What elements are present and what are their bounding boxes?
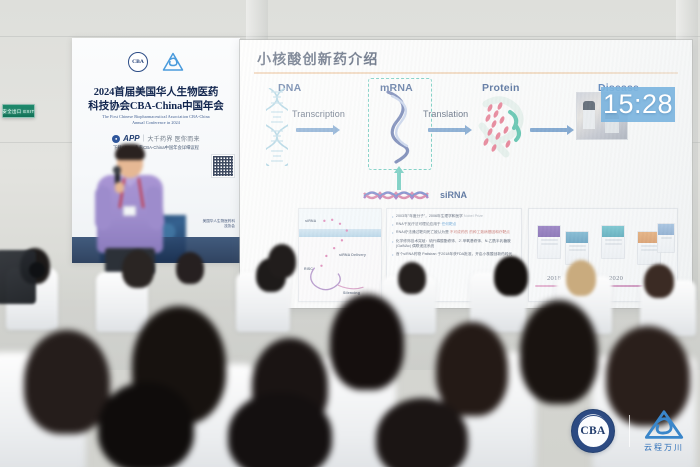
- mech-label-risc: RISC: [304, 267, 313, 271]
- sirna-duplex-icon: [362, 186, 432, 204]
- banner-side-text: 美国华人生物医药科技协会: [201, 219, 235, 229]
- panel-mechanism: siRNA siRNA Delivery RISC Silencing: [298, 208, 382, 302]
- watermark-divider: [629, 415, 630, 447]
- mech-label-sirna: siRNA: [305, 219, 316, 223]
- step-label-translation: Translation: [423, 109, 468, 119]
- banner-subtitle: The First Chinese Biopharmaceutical Asso…: [80, 114, 232, 126]
- cloud-watermark-icon: 云程万川: [644, 410, 684, 453]
- timer-value: 15:28: [603, 89, 673, 120]
- cloud-watermark-text: 云程万川: [644, 442, 684, 453]
- drug-product-card: [601, 225, 625, 259]
- qr-code-icon: [211, 154, 235, 178]
- mech-label-delivery: siRNA Delivery: [339, 253, 366, 257]
- cloud-logo-icon: [162, 52, 184, 72]
- sirna-label: siRNA: [440, 190, 467, 200]
- doctor-figure: [583, 101, 595, 129]
- list-item: • 首个siRNA药物 Patisiran 于2018年获FDA批准，开启小核酸…: [392, 252, 517, 257]
- cba-logo-icon: CBA: [128, 52, 148, 72]
- exit-sign-label: 安全出口 EXIT: [2, 109, 34, 114]
- app-divider: |: [143, 135, 145, 142]
- list-item: • RNA干扰疗法可理论应用于 任何靶点: [392, 222, 517, 227]
- wall-seam: [0, 36, 700, 37]
- drug-product-card: [657, 223, 675, 253]
- bullet-list: • 2003年"年度分子"，2006年生理学和医学 Nobel Prize • …: [392, 214, 517, 260]
- title-underline: [254, 72, 678, 74]
- timer-overlay: 15:28: [601, 87, 675, 122]
- arrow-to-disease: [530, 128, 568, 132]
- cba-watermark-icon: CBA: [571, 409, 615, 453]
- video-camera: [0, 250, 36, 304]
- exit-sign: 安全出口 EXIT: [2, 104, 35, 118]
- list-item: • RNAi疗法通过靶向死亡被认为是 不可成药的 的种工致病基因和疗靶点: [392, 230, 517, 235]
- drug-product-card: [537, 225, 561, 259]
- slide-title: 小核酸创新药介绍: [257, 49, 379, 69]
- cba-watermark-text: CBA: [580, 425, 605, 437]
- list-item: • 化学修饰技术突破：硫代磷酸酯修饰、2'-甲氧基修饰、N-乙酰半乳糖胺 (Ga…: [392, 239, 517, 249]
- protein-structure-icon: [472, 92, 532, 162]
- watermark-logos: CBA 云程万川: [571, 409, 684, 453]
- mrna-strand-icon: [378, 88, 420, 166]
- projection-screen: 小核酸创新药介绍 DNA mRNA Protein Disease Transc…: [240, 40, 692, 308]
- speaker-badge: [123, 206, 136, 216]
- step-label-transcription: Transcription: [292, 109, 345, 119]
- photo-scene: 安全出口 EXIT CBA 2024首届美国华人生物医药 科技协会CBA-Chi…: [0, 0, 700, 467]
- banner-title: 2024首届美国华人生物医药 科技协会CBA-China中国年会: [76, 86, 236, 113]
- arrow-translation: [428, 128, 466, 132]
- arrow-transcription: [296, 128, 334, 132]
- banner-logo-row: CBA: [72, 52, 240, 72]
- list-item: • 2003年"年度分子"，2006年生理学和医学 Nobel Prize: [392, 214, 517, 219]
- dna-helix-icon: [266, 88, 288, 166]
